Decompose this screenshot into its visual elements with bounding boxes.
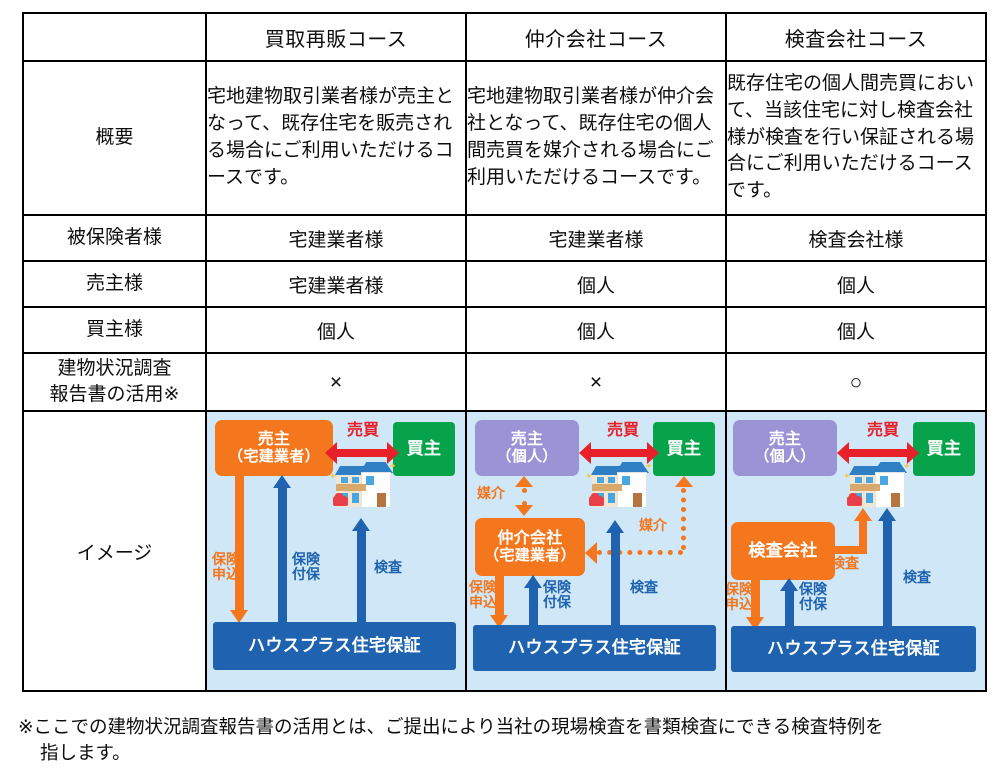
arrow-label-hoken-moshikomi: 保険 申込 bbox=[727, 582, 753, 613]
arrow-label-hoken-moshikomi: 保険 申込 bbox=[212, 552, 240, 583]
arrow-kensa-head bbox=[352, 518, 370, 531]
mediation-right-head-up bbox=[675, 476, 693, 487]
mediation-right-head-left bbox=[585, 542, 597, 564]
node-guarantor-label: ハウスプラス住宅保証 bbox=[508, 638, 681, 657]
arrow-label-line1: 保険 bbox=[212, 551, 240, 567]
row-label-chousa: 建物状況調査 報告書の活用※ bbox=[23, 353, 206, 411]
mediation-left-head-up bbox=[515, 476, 533, 487]
cell-hihokensha-kaitori: 宅建業者様 bbox=[206, 215, 466, 261]
course-comparison-table: 買取再販コース 仲介会社コース 検査会社コース 概要 宅地建物取引業者様が売主と… bbox=[22, 12, 987, 692]
arrow-hoken-fuho-bar bbox=[529, 587, 538, 625]
arrow-label-line1: 保険 bbox=[543, 579, 571, 595]
node-seller-line2: （個人） bbox=[496, 449, 557, 466]
arrow-kensa-bar bbox=[883, 520, 892, 626]
table-row-gaiyou: 概要 宅地建物取引業者様が売主となって、既存住宅を販売される場合にご利用いただけ… bbox=[23, 61, 986, 215]
node-buyer: 買主 bbox=[393, 422, 455, 476]
label-inspect-orange: 検査 bbox=[831, 556, 859, 571]
arrow-label-kensa: 検査 bbox=[630, 580, 658, 595]
trade-arrow-bar bbox=[847, 449, 913, 457]
arrow-label-hoken-moshikomi: 保険 申込 bbox=[469, 580, 497, 611]
cell-chousa-chukai: × bbox=[466, 353, 726, 411]
mediation-left-head-down bbox=[515, 505, 533, 516]
node-inspector-label: 検査会社 bbox=[748, 541, 817, 560]
column-header-kaitori: 買取再販コース bbox=[206, 13, 466, 61]
node-seller-line1: 売主 bbox=[769, 431, 802, 449]
cell-urinushi-chukai: 個人 bbox=[466, 261, 726, 307]
arrow-label-line1: 保険 bbox=[469, 579, 497, 595]
node-agency-line2: （宅建業者） bbox=[484, 548, 576, 565]
diagram-chukai: 売主 （個人） 買主 売買 ✦ ✦ ✦ bbox=[467, 412, 725, 690]
node-seller-line1: 売主 bbox=[258, 431, 291, 449]
page-root: 買取再販コース 仲介会社コース 検査会社コース 概要 宅地建物取引業者様が売主と… bbox=[0, 0, 1008, 771]
cell-gaiyou-kaitori: 宅地建物取引業者様が売主となって、既存住宅を販売される場合にご利用いただけるコー… bbox=[206, 61, 466, 215]
cell-kainushi-chukai: 個人 bbox=[466, 307, 726, 353]
node-buyer-label: 買主 bbox=[407, 439, 442, 458]
trade-arrow-bar bbox=[589, 449, 653, 457]
arrow-label-line1: 保険 bbox=[799, 581, 827, 597]
cell-urinushi-kaitori: 宅建業者様 bbox=[206, 261, 466, 307]
arrow-hoken-fuho-head bbox=[273, 475, 291, 488]
label-trade: 売買 bbox=[867, 422, 899, 440]
inspect-orange-head bbox=[854, 508, 872, 521]
cell-urinushi-kensa: 個人 bbox=[726, 261, 986, 307]
node-guarantor-label: ハウスプラス住宅保証 bbox=[767, 639, 940, 658]
row-label-image: イメージ bbox=[23, 411, 206, 691]
cell-hihokensha-chukai: 宅建業者様 bbox=[466, 215, 726, 261]
arrow-kensa-head bbox=[606, 520, 624, 533]
arrow-label-hoken-fuho: 保険 付保 bbox=[292, 552, 320, 583]
node-seller: 売主 （個人） bbox=[475, 420, 579, 476]
arrow-hoken-fuho-bar bbox=[278, 487, 287, 622]
footnote-line2: 指します。 bbox=[18, 740, 993, 766]
node-guarantor: ハウスプラス住宅保証 bbox=[473, 625, 716, 671]
cell-hihokensha-kensa: 検査会社様 bbox=[726, 215, 986, 261]
arrow-label-kensa: 検査 bbox=[903, 570, 931, 585]
table-row-hihokensha: 被保険者様 宅建業者様 宅建業者様 検査会社様 bbox=[23, 215, 986, 261]
house-illustration: ✦ ✦ ✦ bbox=[589, 460, 651, 514]
node-buyer-label: 買主 bbox=[667, 439, 702, 458]
cell-gaiyou-chukai: 宅地建物取引業者様が仲介会社となって、既存住宅の個人間売買を媒介される場合にご利… bbox=[466, 61, 726, 215]
diagram-kaitori: 売主 （宅建業者） 買主 売買 ✦ bbox=[207, 412, 465, 690]
cell-gaiyou-kensa: 既存住宅の個人間売買において、当該住宅に対し検査会社様が検査を行い保証される場合… bbox=[726, 61, 986, 215]
arrow-kensa-bar bbox=[611, 532, 620, 625]
node-buyer-label: 買主 bbox=[927, 439, 962, 458]
table-row-kainushi: 買主様 個人 個人 個人 bbox=[23, 307, 986, 353]
table-row-image: イメージ 売主 （宅建業者） 買主 売買 bbox=[23, 411, 986, 691]
arrow-label-kensa: 検査 bbox=[374, 560, 402, 575]
arrow-kensa-bar bbox=[357, 530, 366, 622]
arrow-label-hoken-fuho: 保険 付保 bbox=[799, 582, 827, 613]
row-label-chousa-line1: 建物状況調査 bbox=[57, 358, 171, 379]
node-inspector: 検査会社 bbox=[731, 522, 835, 580]
arrow-kensa-head bbox=[878, 508, 896, 521]
cell-image-kaitori: 売主 （宅建業者） 買主 売買 ✦ bbox=[206, 411, 466, 691]
node-seller-line1: 売主 bbox=[511, 431, 544, 449]
row-label-urinushi: 売主様 bbox=[23, 261, 206, 307]
column-header-chukai: 仲介会社コース bbox=[466, 13, 726, 61]
node-seller-line2: （個人） bbox=[754, 449, 815, 466]
label-trade: 売買 bbox=[607, 422, 639, 440]
node-guarantor: ハウスプラス住宅保証 bbox=[213, 622, 456, 670]
label-mediation-right: 媒介 bbox=[639, 518, 667, 533]
cell-image-chukai: 売主 （個人） 買主 売買 ✦ ✦ ✦ bbox=[466, 411, 726, 691]
arrow-label-hoken-fuho: 保険 付保 bbox=[543, 580, 571, 611]
arrow-hoken-fuho-head bbox=[780, 578, 798, 591]
cell-chousa-kensa: ○ bbox=[726, 353, 986, 411]
arrow-label-line1: 保険 bbox=[292, 551, 320, 567]
column-header-kensa: 検査会社コース bbox=[726, 13, 986, 61]
footnote: ※ここでの建物状況調査報告書の活用とは、ご提出により当社の現場検査を書類検査にで… bbox=[18, 714, 993, 767]
diagram-kensa: 売主 （個人） 買主 売買 ✦ ✦ ✦ bbox=[727, 412, 985, 690]
arrow-label-line2: 付保 bbox=[292, 566, 320, 582]
cell-kainushi-kaitori: 個人 bbox=[206, 307, 466, 353]
arrow-label-line2: 申込 bbox=[469, 594, 497, 610]
arrow-label-line2: 申込 bbox=[727, 596, 753, 612]
row-label-hihokensha: 被保険者様 bbox=[23, 215, 206, 261]
table-row-urinushi: 売主様 宅建業者様 個人 個人 bbox=[23, 261, 986, 307]
table-header-row: 買取再販コース 仲介会社コース 検査会社コース bbox=[23, 13, 986, 61]
mark-cross: × bbox=[590, 371, 602, 394]
table-corner-cell bbox=[23, 13, 206, 61]
house-illustration: ✦ ✦ ✦ bbox=[847, 460, 909, 514]
node-agency: 仲介会社 （宅建業者） bbox=[475, 518, 585, 576]
node-seller: 売主 （宅建業者） bbox=[215, 420, 333, 476]
arrow-label-line2: 付保 bbox=[799, 596, 827, 612]
house-illustration: ✦ ✦ ✦ bbox=[333, 460, 395, 514]
inspect-orange-vertical bbox=[859, 520, 867, 552]
arrow-hoken-moshikomi-bar bbox=[235, 474, 244, 612]
node-seller-line2: （宅建業者） bbox=[228, 449, 320, 466]
node-buyer: 買主 bbox=[913, 422, 975, 476]
mediation-left-dotted bbox=[522, 488, 527, 506]
arrow-hoken-fuho-head bbox=[524, 575, 542, 588]
mark-circle: ○ bbox=[850, 371, 863, 394]
arrow-hoken-fuho-bar bbox=[785, 590, 794, 626]
cell-chousa-kaitori: × bbox=[206, 353, 466, 411]
footnote-line1: ※ここでの建物状況調査報告書の活用とは、ご提出により当社の現場検査を書類検査にで… bbox=[18, 716, 884, 737]
row-label-gaiyou: 概要 bbox=[23, 61, 206, 215]
cell-image-kensa: 売主 （個人） 買主 売買 ✦ ✦ ✦ bbox=[726, 411, 986, 691]
mark-cross: × bbox=[330, 371, 342, 394]
label-trade: 売買 bbox=[347, 422, 379, 440]
arrow-label-line1: 保険 bbox=[727, 581, 753, 597]
node-agency-line1: 仲介会社 bbox=[497, 530, 562, 548]
arrow-label-line2: 申込 bbox=[212, 566, 240, 582]
label-mediation-left: 媒介 bbox=[477, 486, 505, 501]
arrow-label-line2: 付保 bbox=[543, 594, 571, 610]
cell-kainushi-kensa: 個人 bbox=[726, 307, 986, 353]
table-row-chousa: 建物状況調査 報告書の活用※ × × ○ bbox=[23, 353, 986, 411]
mediation-right-dotted-vertical bbox=[681, 488, 686, 550]
node-seller: 売主 （個人） bbox=[733, 420, 837, 476]
node-guarantor-label: ハウスプラス住宅保証 bbox=[248, 636, 421, 655]
node-buyer: 買主 bbox=[653, 422, 715, 476]
row-label-kainushi: 買主様 bbox=[23, 307, 206, 353]
node-guarantor: ハウスプラス住宅保証 bbox=[731, 626, 976, 672]
mediation-right-dotted-horizontal bbox=[597, 550, 683, 555]
row-label-chousa-line2: 報告書の活用※ bbox=[50, 384, 180, 405]
trade-arrow-bar bbox=[335, 449, 393, 457]
